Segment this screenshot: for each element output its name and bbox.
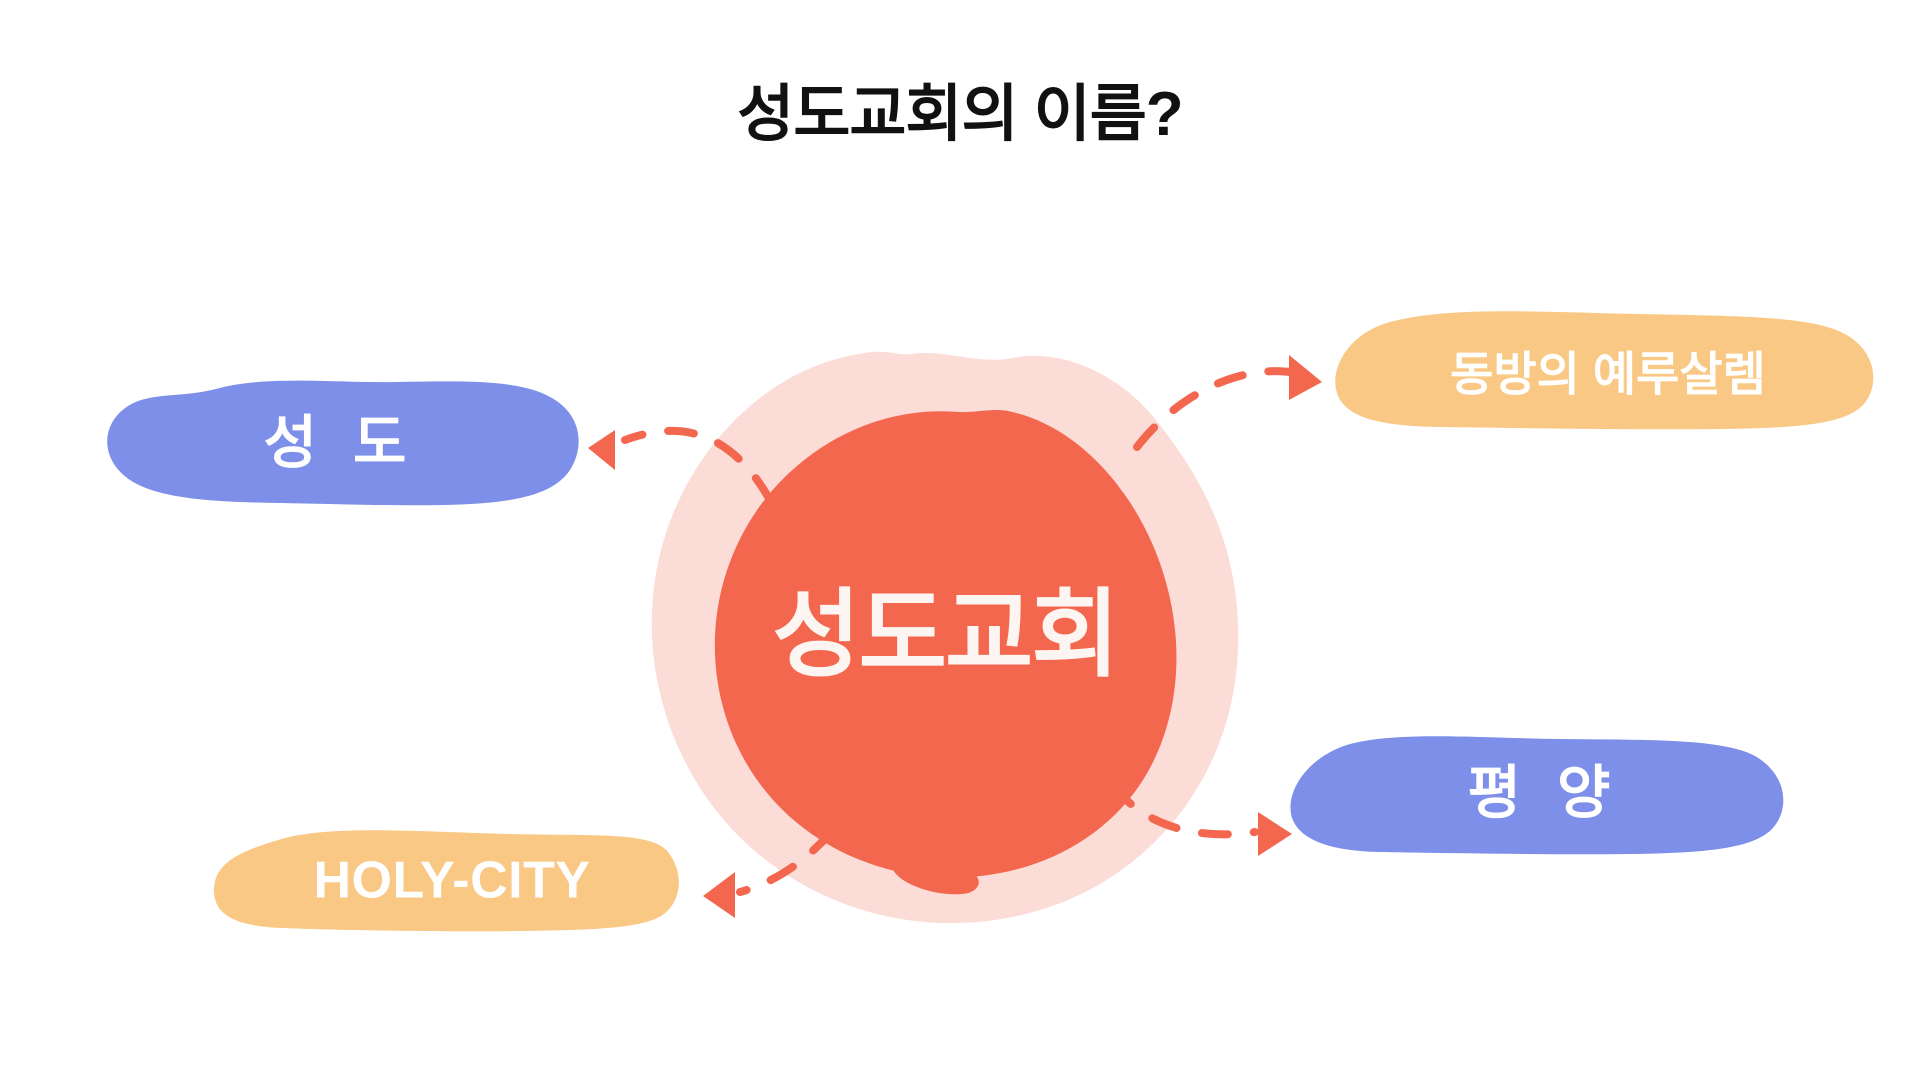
node-seongdo-label: 성 도 xyxy=(264,410,417,475)
mindmap-graphic: 성도교회 성 도 동방의 예루살렘 xyxy=(0,0,1920,1080)
node-pyongyang[interactable]: 평 양 xyxy=(1290,736,1783,854)
connector-arrowhead-holy-city xyxy=(703,872,735,918)
node-jerusalem-label: 동방의 예루살렘 xyxy=(1450,347,1766,400)
connector-arrowhead-seongdo xyxy=(588,430,615,470)
node-jerusalem[interactable]: 동방의 예루살렘 xyxy=(1335,311,1873,429)
node-holy-city[interactable]: HOLY-CITY xyxy=(214,830,679,931)
node-seongdo[interactable]: 성 도 xyxy=(107,381,578,506)
node-pyongyang-label: 평 양 xyxy=(1468,760,1621,825)
connector-arrowhead-jerusalem xyxy=(1289,355,1322,400)
diagram-canvas: 성도교회의 이름? 성도교회 xyxy=(0,0,1920,1080)
connector-arrowhead-pyongyang xyxy=(1258,812,1292,856)
center-node-label: 성도교회 xyxy=(772,581,1117,688)
node-holy-city-label: HOLY-CITY xyxy=(313,852,590,910)
